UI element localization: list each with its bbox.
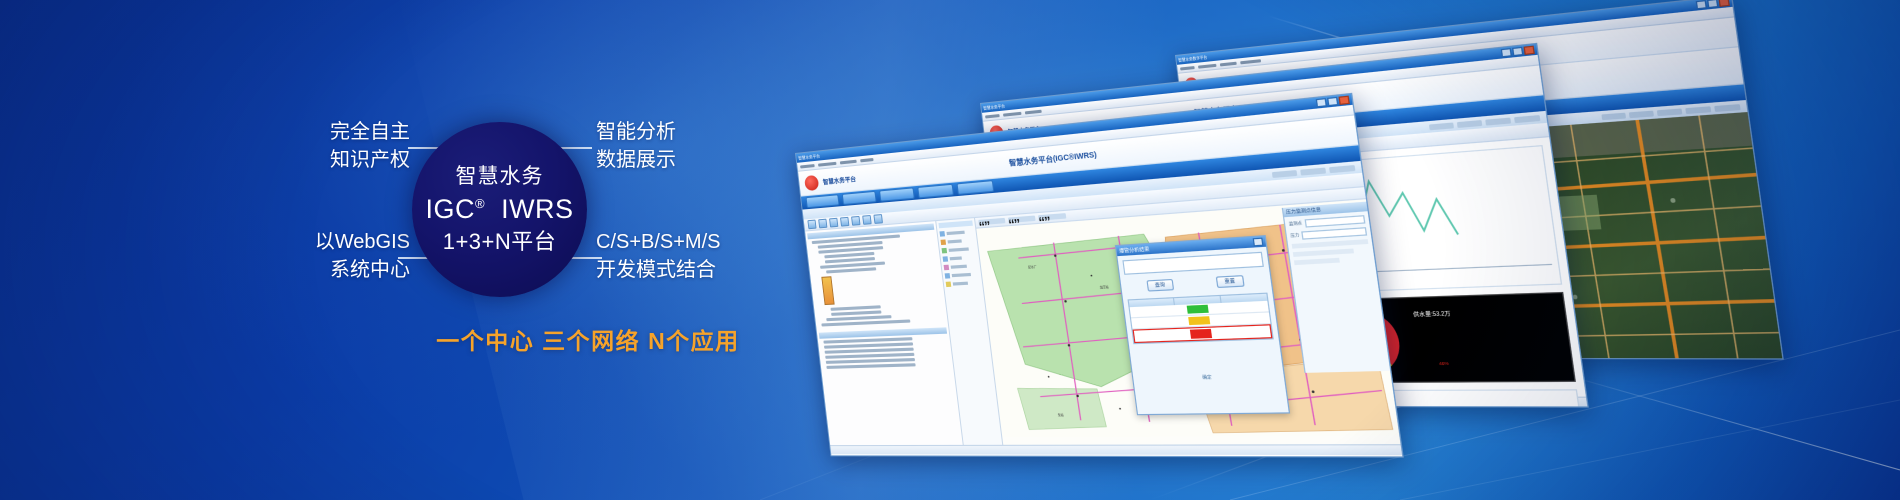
sub-toolbar-item[interactable]	[1714, 104, 1740, 112]
menu-item[interactable]	[985, 114, 1000, 118]
sub-toolbar-item[interactable]	[1457, 119, 1482, 127]
map-tab[interactable]	[1038, 213, 1066, 221]
menu-item[interactable]	[840, 159, 857, 164]
gis-workspace: 管网爆管区域报警提示 影响用户约 320 户 配水厂加压站调节池 水源地泵站 爆…	[805, 187, 1400, 445]
sub-toolbar-item[interactable]	[1601, 112, 1626, 120]
feature-bottom-left-line2: 系统中心	[250, 256, 410, 284]
hub-product-suffix: IWRS	[501, 194, 574, 224]
maximize-icon[interactable]	[1327, 97, 1338, 106]
feature-bottom-right-line2: 开发模式结合	[596, 256, 721, 284]
status-badge-warning	[1188, 316, 1210, 325]
sub-toolbar-item[interactable]	[1629, 110, 1654, 118]
status-badge-normal	[1187, 305, 1209, 314]
dialog-title: 爆管分析结果	[1119, 246, 1150, 255]
tool-icon[interactable]	[851, 216, 860, 226]
menu-item[interactable]	[1220, 61, 1237, 66]
layer-tree[interactable]	[808, 232, 939, 275]
sub-toolbar-item[interactable]	[1272, 169, 1297, 177]
window-front-gis[interactable]: 智慧水务平台 智慧水务平台 智慧水务平台(IGC®IWRS)	[795, 93, 1404, 458]
field-value[interactable]	[1301, 227, 1367, 240]
menu-item[interactable]	[818, 161, 837, 166]
registered-trademark-icon: ®	[475, 196, 485, 211]
menu-item[interactable]	[1180, 66, 1195, 70]
tool-icon[interactable]	[862, 215, 872, 225]
center-hub-circle: 智慧水务 IGC® IWRS 1+3+N平台	[412, 122, 587, 297]
feature-top-right: 智能分析 数据展示	[596, 118, 676, 175]
feature-bottom-right: C/S+B/S+M/S 开发模式结合	[596, 228, 721, 285]
brand-name: 智慧水务平台	[822, 174, 856, 186]
monitor-panel-fields[interactable]: 监测点 压力	[1284, 211, 1375, 272]
menu-item[interactable]	[1003, 111, 1022, 116]
menu-item[interactable]	[800, 164, 815, 168]
tool-icon[interactable]	[807, 220, 816, 230]
dialog-result-table[interactable]	[1128, 293, 1274, 345]
menu-item[interactable]	[1240, 59, 1261, 64]
legend-swatch	[821, 276, 834, 305]
maximize-icon[interactable]	[1512, 47, 1523, 56]
menu-item[interactable]	[1025, 109, 1042, 114]
sub-toolbar-item[interactable]	[1429, 122, 1454, 130]
tool-icon[interactable]	[873, 214, 883, 224]
sub-toolbar-item[interactable]	[1685, 106, 1711, 114]
feature-bottom-left-line1: 以WebGIS	[250, 228, 410, 256]
close-icon[interactable]	[1338, 96, 1349, 105]
svg-text:配水厂: 配水厂	[1028, 264, 1038, 269]
toolbox-header	[939, 220, 973, 228]
svg-text:泵站: 泵站	[1058, 413, 1065, 418]
dialog-close-icon[interactable]	[1253, 238, 1264, 247]
dialog-cancel-button[interactable]: 重置	[1215, 275, 1244, 288]
company-logo-icon	[804, 174, 819, 190]
feature-top-left-line2: 知识产权	[300, 146, 410, 174]
dialog-ok-button[interactable]: 查询	[1146, 279, 1174, 292]
screenshot-stack: 智慧水务数字平台 智慧水务平台 智慧水务平台(IGC®IWRS)	[795, 55, 1885, 385]
feature-top-left-line1: 完全自主	[300, 118, 410, 146]
feature-diagram: 完全自主 知识产权 以WebGIS 系统中心 智能分析 数据展示 C/S+B/S…	[250, 100, 810, 370]
hero-banner: 完全自主 知识产权 以WebGIS 系统中心 智能分析 数据展示 C/S+B/S…	[0, 0, 1900, 500]
app-title: 智慧水务平台(IGC®IWRS)	[1008, 149, 1097, 168]
close-icon[interactable]	[1718, 0, 1729, 7]
donut-value-label: 供水量:53.2万	[1413, 309, 1452, 319]
sub-toolbar-item[interactable]	[1514, 114, 1540, 122]
attribute-list[interactable]	[820, 336, 951, 369]
feature-top-left: 完全自主 知识产权	[300, 118, 410, 175]
hub-product-code: IGC	[425, 194, 475, 224]
hub-line-3: 1+3+N平台	[443, 231, 557, 253]
dialog-buttons[interactable]: 查询 重置	[1125, 274, 1266, 293]
hub-line-2: IGC® IWRS	[425, 196, 573, 223]
menu-item[interactable]	[1198, 63, 1217, 68]
minimize-icon[interactable]	[1696, 0, 1707, 9]
feature-bottom-right-line1: C/S+B/S+M/S	[596, 228, 721, 256]
feature-bottom-left: 以WebGIS 系统中心	[250, 228, 410, 285]
map-tab[interactable]	[1008, 215, 1036, 222]
gis-map-canvas[interactable]: 管网爆管区域报警提示 影响用户约 320 户 配水厂加压站调节池 水源地泵站 爆…	[975, 187, 1400, 445]
hub-line-1: 智慧水务	[456, 166, 544, 187]
field-value[interactable]	[1304, 215, 1365, 228]
toolbox-items[interactable]	[940, 229, 981, 287]
minimize-icon[interactable]	[1316, 98, 1327, 107]
dialog-input[interactable]	[1123, 252, 1265, 275]
svg-text:46%: 46%	[1439, 361, 1450, 366]
dialog-footer-note: 确定	[1138, 372, 1280, 382]
tagline: 一个中心 三个网络 N个应用	[368, 322, 808, 356]
sub-toolbar-item[interactable]	[1300, 167, 1326, 175]
minimize-icon[interactable]	[1501, 48, 1512, 57]
field-label: 监测点	[1289, 221, 1303, 228]
tool-icon[interactable]	[840, 217, 849, 227]
map-tab[interactable]	[978, 218, 1005, 225]
status-badge-critical	[1190, 329, 1212, 339]
sub-toolbar-item[interactable]	[1329, 164, 1355, 172]
svg-text:加压站: 加压站	[1100, 285, 1110, 290]
menu-item[interactable]	[860, 157, 873, 161]
analysis-dialog[interactable]: 爆管分析结果 查询 重置	[1115, 235, 1290, 415]
maximize-icon[interactable]	[1707, 0, 1718, 8]
feature-top-right-line1: 智能分析	[596, 118, 676, 146]
close-icon[interactable]	[1523, 46, 1534, 55]
sub-toolbar-item[interactable]	[1485, 117, 1511, 125]
layer-tree-lower[interactable]	[816, 302, 946, 327]
status-bar	[830, 444, 1402, 455]
feature-top-right-line2: 数据展示	[596, 146, 676, 174]
tool-icon[interactable]	[829, 218, 838, 228]
sub-toolbar-item[interactable]	[1657, 108, 1683, 116]
tool-icon[interactable]	[818, 219, 827, 229]
field-label: 压力	[1290, 233, 1299, 239]
